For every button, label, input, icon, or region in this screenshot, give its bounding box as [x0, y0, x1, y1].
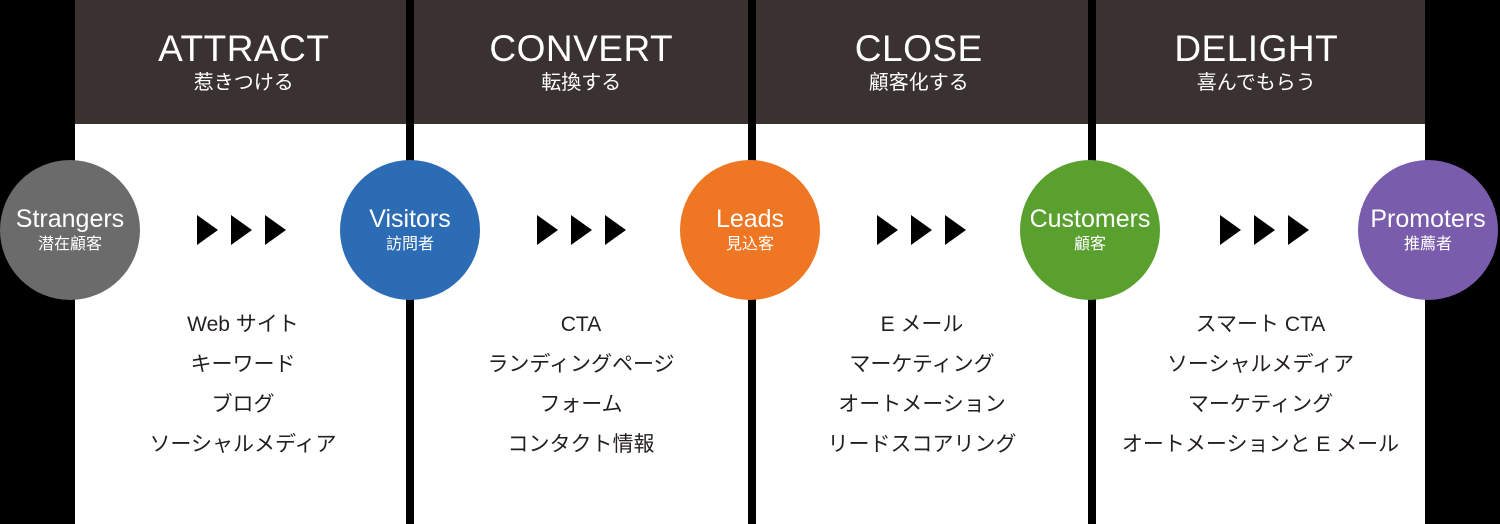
- phase-title-jp: 喜んでもらう: [1197, 72, 1316, 94]
- chevron-right-icon: [231, 215, 252, 245]
- tactics-list-delight: スマート CTA ソーシャルメディア マーケティング オートメーションと E メ…: [1096, 305, 1425, 465]
- tactic-item: リードスコアリング: [756, 425, 1088, 465]
- tactic-item: コンタクト情報: [414, 425, 748, 465]
- phase-title-en: CONVERT: [489, 30, 673, 69]
- tactic-item: スマート CTA: [1096, 305, 1425, 345]
- tactic-item: ブログ: [80, 385, 406, 425]
- chevron-right-icon: [945, 215, 966, 245]
- chevron-right-icon: [571, 215, 592, 245]
- tactic-item: ランディングページ: [414, 345, 748, 385]
- stage-circle-leads[interactable]: Leads 見込客: [680, 160, 820, 300]
- phase-title-en: ATTRACT: [158, 30, 329, 69]
- stage-label-en: Strangers: [16, 206, 124, 232]
- arrow-group-close: [877, 215, 966, 245]
- chevron-right-icon: [911, 215, 932, 245]
- chevron-right-icon: [197, 215, 218, 245]
- chevron-right-icon: [877, 215, 898, 245]
- phase-header-delight: DELIGHT 喜んでもらう: [1088, 0, 1426, 124]
- stage-label-en: Customers: [1030, 206, 1151, 232]
- phase-title-jp: 顧客化する: [869, 72, 969, 94]
- phase-title-en: DELIGHT: [1174, 30, 1338, 69]
- tactics-list-attract: Web サイト キーワード ブログ ソーシャルメディア: [80, 305, 406, 465]
- chevron-right-icon: [1220, 215, 1241, 245]
- tactic-item: オートメーション: [756, 385, 1088, 425]
- stage-label-en: Visitors: [369, 206, 451, 232]
- stage-circle-strangers[interactable]: Strangers 潜在顧客: [0, 160, 140, 300]
- tactics-list-close: E メール マーケティング オートメーション リードスコアリング: [756, 305, 1088, 465]
- stage-label-jp: 潜在顧客: [38, 235, 102, 254]
- stage-circle-promoters[interactable]: Promoters 推薦者: [1358, 160, 1498, 300]
- phase-header-close: CLOSE 顧客化する: [750, 0, 1088, 124]
- tactic-item: CTA: [414, 305, 748, 345]
- tactic-item: フォーム: [414, 385, 748, 425]
- phase-header-attract: ATTRACT 惹きつける: [75, 0, 413, 124]
- tactic-item: Web サイト: [80, 305, 406, 345]
- tactic-item: マーケティング: [756, 345, 1088, 385]
- phase-title-jp: 惹きつける: [194, 72, 294, 94]
- tactics-list-convert: CTA ランディングページ フォーム コンタクト情報: [414, 305, 748, 465]
- stage-label-en: Promoters: [1370, 206, 1485, 232]
- arrow-group-delight: [1220, 215, 1309, 245]
- tactic-item: E メール: [756, 305, 1088, 345]
- phase-title-en: CLOSE: [855, 30, 983, 69]
- stage-label-jp: 推薦者: [1404, 235, 1452, 254]
- arrow-group-attract: [197, 215, 286, 245]
- arrow-group-convert: [537, 215, 626, 245]
- phase-header-convert: CONVERT 転換する: [413, 0, 751, 124]
- tactic-item: マーケティング: [1096, 385, 1425, 425]
- chevron-right-icon: [1288, 215, 1309, 245]
- stage-circle-visitors[interactable]: Visitors 訪問者: [340, 160, 480, 300]
- stage-label-en: Leads: [716, 206, 784, 232]
- tactic-item: ソーシャルメディア: [80, 425, 406, 465]
- tactic-item: ソーシャルメディア: [1096, 345, 1425, 385]
- inbound-methodology-diagram: ATTRACT 惹きつける CONVERT 転換する CLOSE 顧客化する D…: [0, 0, 1500, 524]
- stage-circle-customers[interactable]: Customers 顧客: [1020, 160, 1160, 300]
- chevron-right-icon: [537, 215, 558, 245]
- tactic-item: オートメーションと E メール: [1096, 425, 1425, 465]
- phase-title-jp: 転換する: [541, 72, 621, 94]
- chevron-right-icon: [265, 215, 286, 245]
- stage-label-jp: 訪問者: [386, 235, 434, 254]
- tactic-item: キーワード: [80, 345, 406, 385]
- chevron-right-icon: [1254, 215, 1275, 245]
- stage-label-jp: 顧客: [1074, 235, 1106, 254]
- stage-label-jp: 見込客: [726, 235, 774, 254]
- chevron-right-icon: [605, 215, 626, 245]
